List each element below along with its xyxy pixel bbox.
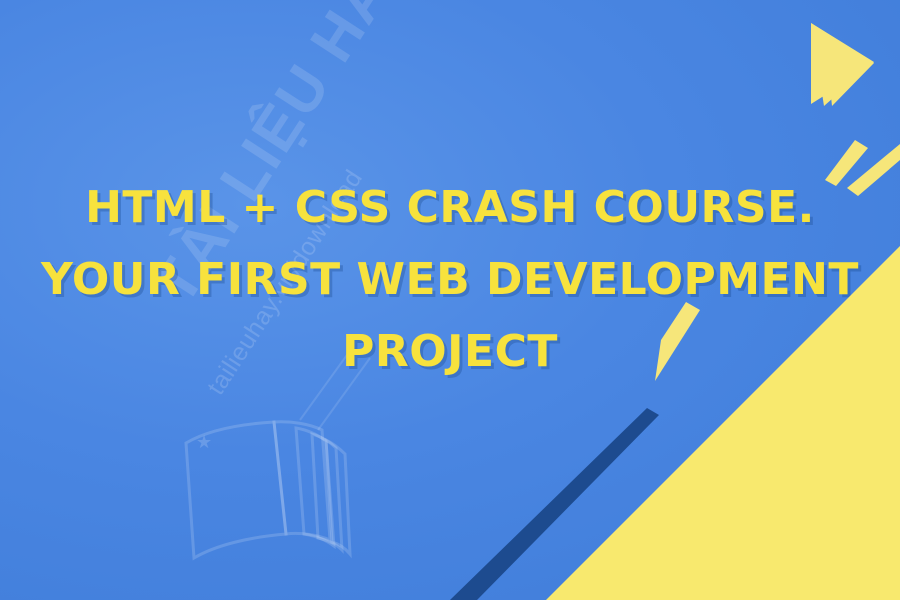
star-icon: ★ (196, 432, 212, 453)
yellow-arrow-triangle-shape-b (811, 23, 874, 106)
headline-line-3: PROJECT (0, 330, 900, 374)
diagonal-stripe-short-shape (825, 140, 868, 186)
headline-block: HTML + CSS CRASH COURSE. YOUR FIRST WEB … (0, 186, 900, 374)
course-banner-image: TÀI LIỆU HAY tailieuhay.vn/download ★ HT… (0, 0, 900, 600)
yellow-arrow-triangle-shape (811, 23, 874, 106)
headline-line-1: HTML + CSS CRASH COURSE. (0, 186, 900, 230)
navy-diagonal-bar-shape (450, 408, 659, 600)
headline-line-2: YOUR FIRST WEB DEVELOPMENT (0, 258, 900, 302)
